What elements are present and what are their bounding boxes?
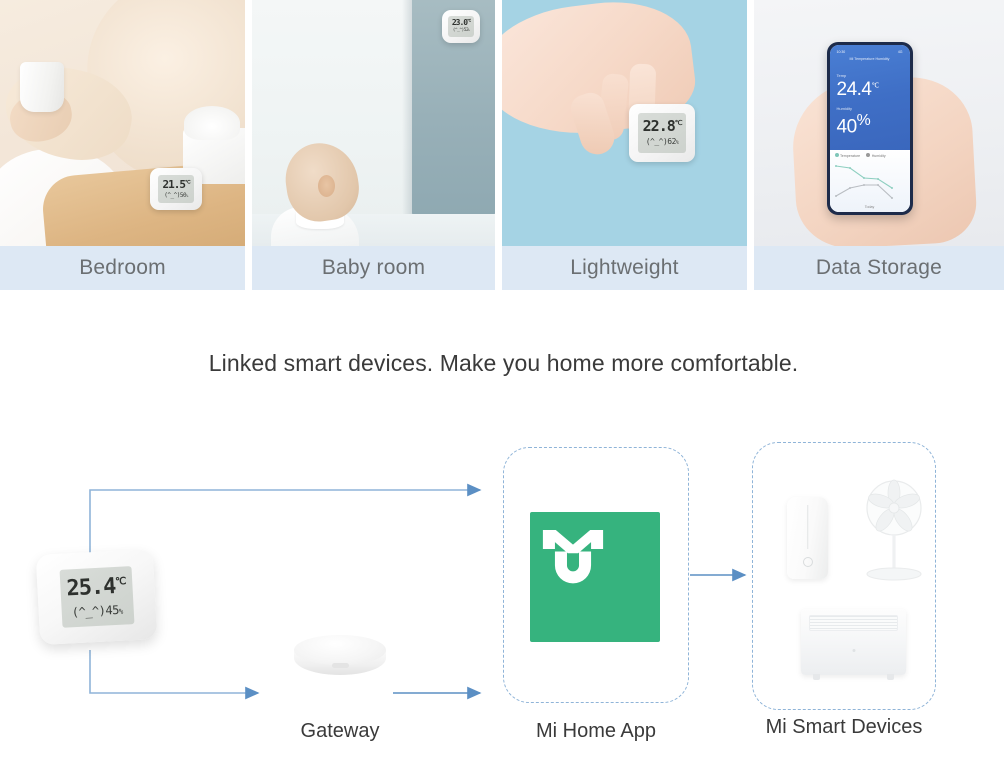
sensor-lcd: 21.5℃ (^_^)50%: [158, 175, 194, 203]
sensor-temp-row: 25.4℃: [66, 575, 126, 600]
scene-tile-baby-room[interactable]: 23.0℃ (^_^)52% Baby room: [252, 0, 495, 290]
sensor-face: (^_^): [646, 137, 668, 146]
sensor-humidity-unit: %: [468, 28, 469, 32]
diagram-label-mi-home-app: Mi Home App: [516, 720, 676, 743]
sensor-face: (^_^): [71, 604, 105, 620]
decor-wall-shadow: [402, 0, 412, 216]
sensor-temp-unit: ℃: [115, 576, 126, 588]
page-tagline: Linked smart devices. Make you home more…: [0, 350, 1007, 377]
phone-humidity-unit: %: [857, 112, 871, 129]
decor-baby-ear: [318, 175, 335, 197]
sensor-lcd: 25.4℃ (^_^)45%: [59, 566, 134, 628]
phone-chart-footer: Today: [830, 205, 910, 209]
scene-tile-data-storage[interactable]: 10:30 4G Mi Temperature Humidity Temp 24…: [754, 0, 1004, 290]
humidifier-button: [803, 557, 813, 567]
heater-indicator: [852, 649, 855, 652]
photo-bedroom: 21.5℃ (^_^)50%: [0, 0, 245, 246]
scene-tiles-row: 21.5℃ (^_^)50% Bedroom: [0, 0, 1007, 290]
sensor-temp-unit: ℃: [467, 19, 470, 23]
sensor-humidity-value: 45: [105, 603, 119, 618]
sensor-device-baby-room: 23.0℃ (^_^)52%: [442, 10, 480, 43]
heater-grill: [809, 615, 898, 631]
gateway-top: [294, 635, 386, 665]
phone-chart-panel: Temperature Humidity Today: [830, 150, 910, 212]
phone-chart-legend: Temperature Humidity: [830, 150, 910, 158]
diagram-gateway-device: [294, 635, 386, 679]
sensor-device-bedroom: 21.5℃ (^_^)50%: [150, 168, 202, 210]
device-humidifier-icon: [787, 497, 828, 579]
phone-navbar-title: Mi Temperature Humidity: [837, 57, 903, 61]
phone-temp-unit: ℃: [871, 82, 878, 89]
scene-caption-lightweight: Lightweight: [502, 246, 747, 290]
phone-trend-chart: [830, 158, 910, 206]
photo-data-storage: 10:30 4G Mi Temperature Humidity Temp 24…: [754, 0, 1004, 246]
sensor-temp-value: 22.8: [643, 117, 675, 135]
gateway-port: [332, 663, 349, 668]
photo-baby-room: 23.0℃ (^_^)52%: [252, 0, 495, 246]
device-heater-icon: [801, 609, 906, 675]
phone-app-header: 10:30 4G Mi Temperature Humidity Temp 24…: [830, 45, 910, 150]
sensor-lcd: 23.0℃ (^_^)52%: [448, 16, 474, 37]
sensor-temp-value: 23.0: [452, 18, 467, 27]
sensor-lcd: 22.8℃ (^_^)62%: [638, 113, 686, 153]
sensor-temp-value: 25.4: [66, 574, 116, 602]
mi-home-logo-icon: [530, 512, 660, 642]
diagram-label-mi-smart-devices: Mi Smart Devices: [744, 716, 944, 739]
phone-statusbar: 10:30 4G: [837, 50, 903, 54]
sensor-temp-unit: ℃: [185, 179, 190, 185]
scene-caption-bedroom: Bedroom: [0, 246, 245, 290]
diagram-devices-box: [752, 442, 936, 710]
phone-temp-label: Temp: [837, 73, 903, 78]
decor-cup: [20, 62, 64, 112]
phone-screen: 10:30 4G Mi Temperature Humidity Temp 24…: [830, 45, 910, 212]
heater-foot-left: [813, 674, 820, 680]
sensor-temp-value: 21.5: [162, 178, 185, 191]
sensor-temp-unit: ℃: [675, 119, 682, 127]
heater-foot-right: [887, 674, 894, 680]
diagram-label-gateway: Gateway: [260, 720, 420, 743]
photo-lightweight: 22.8℃ (^_^)62%: [502, 0, 747, 246]
sensor-humidity-value: 62: [667, 137, 676, 146]
smartphone-mockup: 10:30 4G Mi Temperature Humidity Temp 24…: [827, 42, 913, 215]
mijia-glyph-icon: [530, 512, 616, 598]
scene-caption-data-storage: Data Storage: [754, 246, 1004, 290]
scene-caption-baby-room: Baby room: [252, 246, 495, 290]
device-fan-icon: [857, 479, 931, 583]
phone-humidity-value: 40: [837, 116, 857, 137]
statusbar-signal: 4G: [898, 50, 903, 54]
sensor-face: (^_^): [164, 192, 180, 199]
decor-tissue-sheet: [184, 106, 240, 140]
phone-humidity-label: Humidity: [837, 106, 903, 111]
sensor-humidity-unit: %: [676, 141, 678, 146]
sensor-face: (^_^): [453, 28, 464, 33]
sensor-device-lightweight: 22.8℃ (^_^)62%: [629, 104, 695, 162]
diagram-sensor-device: 25.4℃ (^_^)45%: [36, 549, 158, 645]
phone-temp-reading: 24.4℃: [837, 79, 903, 101]
humidifier-slit: [807, 505, 809, 549]
connectivity-diagram: 25.4℃ (^_^)45% Gateway: [0, 420, 1007, 774]
scene-tile-lightweight[interactable]: 22.8℃ (^_^)62% Lightweight: [502, 0, 747, 290]
connector-sensor-to-gateway: [90, 650, 258, 693]
product-feature-page: 21.5℃ (^_^)50% Bedroom: [0, 0, 1007, 774]
sensor-humidity-row: (^_^)45%: [72, 604, 123, 619]
phone-temp-value: 24.4: [837, 79, 872, 100]
phone-humidity-reading: 40%: [837, 112, 903, 138]
sensor-humidity-unit: %: [119, 607, 123, 616]
statusbar-time: 10:30: [837, 50, 846, 54]
scene-tile-bedroom[interactable]: 21.5℃ (^_^)50% Bedroom: [0, 0, 245, 290]
sensor-humidity-unit: %: [186, 194, 188, 198]
